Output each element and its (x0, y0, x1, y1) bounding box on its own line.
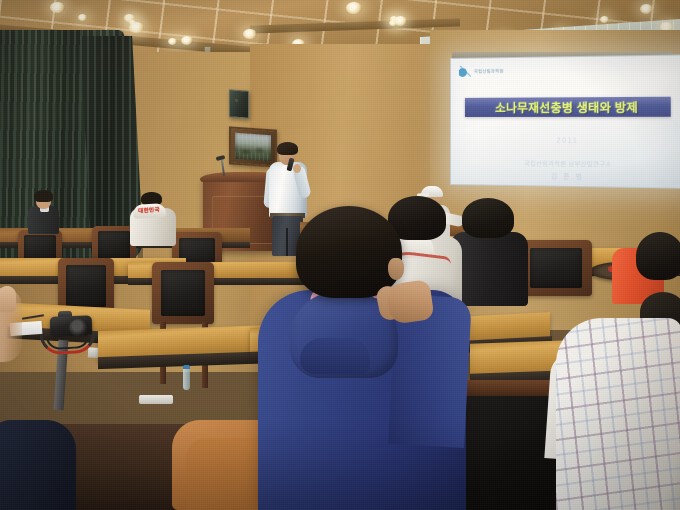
chair (152, 262, 214, 324)
foreground-hand-fingers (0, 286, 16, 312)
slide-title-bar: 소나무재선충병 생태와 방제 (465, 97, 671, 117)
ceiling-light (243, 29, 257, 39)
ceiling-light (129, 22, 144, 33)
chair-pad (66, 265, 106, 307)
ceiling-light (640, 4, 653, 14)
framed-picture (229, 126, 277, 167)
speaker-leg-gap (286, 228, 288, 256)
slide-title: 소나무재선충병 생태와 방제 (495, 98, 638, 115)
institute-logo-icon (459, 66, 471, 77)
presentation-slide: 국립산림과학원 소나무재선충병 생태와 방제 2011 국립산림과학원 남부산림… (451, 55, 680, 187)
person-blue-hoodie-ear (388, 258, 404, 280)
chair-pad (98, 231, 130, 260)
foreground-person-left-torso (0, 420, 76, 510)
desk-item-white (139, 395, 173, 404)
chair-pad (161, 270, 205, 316)
ceiling-light (346, 2, 362, 14)
wall-speaker-icon (229, 89, 249, 118)
ceiling-light (600, 16, 609, 23)
person-blue-hoodie-hand (385, 279, 434, 325)
ceiling-light (394, 16, 407, 26)
projection-screen: 국립산림과학원 소나무재선충병 생태와 방제 2011 국립산림과학원 남부산림… (450, 54, 680, 189)
person-blue-hoodie-hood-fold (300, 338, 370, 374)
ceiling-light (50, 2, 65, 13)
slide-year: 2011 (451, 137, 680, 145)
person-dark-shirt-hair (462, 198, 514, 238)
ceiling-light (168, 38, 177, 45)
ceiling-light (78, 14, 87, 21)
slide-presenter: 김 준 범 (451, 169, 680, 182)
chair-pad (530, 248, 582, 288)
slide-organization: 국립산림과학원 남부산림연구소 (451, 158, 680, 170)
ceiling-light (181, 36, 193, 45)
slide-logo-text: 국립산림과학원 (474, 68, 504, 74)
photograph-scene: 국립산림과학원 소나무재선충병 생태와 방제 2011 국립산림과학원 남부산림… (0, 0, 680, 510)
picture-photo (235, 133, 271, 162)
person-blue-hoodie-hair (296, 206, 402, 298)
chair (520, 240, 592, 296)
person-back-left-hair (34, 190, 53, 202)
speaker-hand (293, 164, 301, 173)
person-plaid-pattern (556, 318, 680, 510)
speaker-hair (277, 142, 298, 155)
person-blue-hoodie-shadow (258, 420, 466, 510)
bottle-cap (183, 365, 190, 369)
water-bottle (183, 368, 190, 390)
slide-logo: 국립산림과학원 (459, 64, 534, 78)
person-orange-hair (636, 232, 680, 280)
